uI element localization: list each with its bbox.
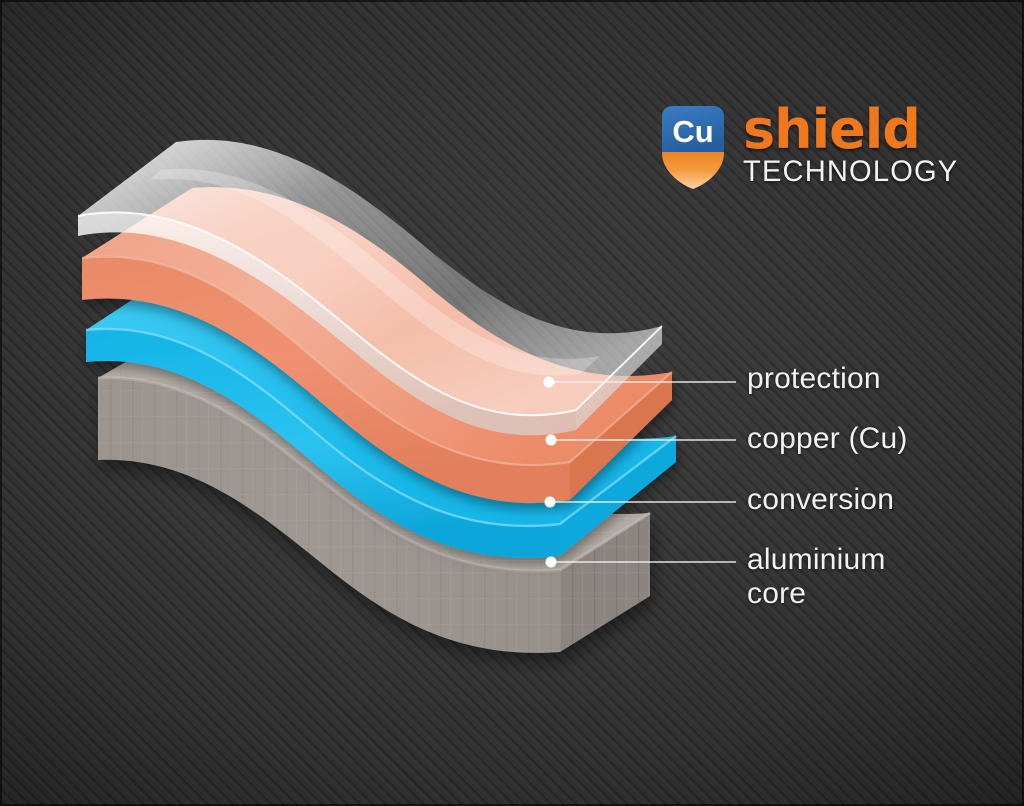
leader-dot-copper — [546, 435, 557, 446]
logo-brand-word: shield — [743, 105, 965, 156]
logo-sub-word: TECHNOLOGY — [743, 157, 958, 188]
callout-label-conversion: conversion — [747, 483, 894, 517]
leader-dot-conversion — [545, 497, 556, 508]
leader-dot-aluminium — [546, 557, 557, 568]
illustration-canvas: Cu shield TECHNOLOGY protection copper (… — [0, 0, 1024, 806]
callout-label-copper: copper (Cu) — [747, 422, 908, 456]
shield-badge-orange-bottom — [662, 147, 724, 189]
leader-dot-protection — [544, 377, 555, 388]
shield-badge-text: Cu — [672, 114, 713, 149]
callout-label-aluminium-core: aluminium core — [747, 543, 886, 610]
callout-label-protection: protection — [747, 362, 881, 396]
shield-badge-icon: Cu — [657, 103, 729, 191]
cu-shield-logo: Cu shield TECHNOLOGY — [657, 103, 965, 191]
logo-wordmark: shield TECHNOLOGY — [743, 103, 965, 187]
